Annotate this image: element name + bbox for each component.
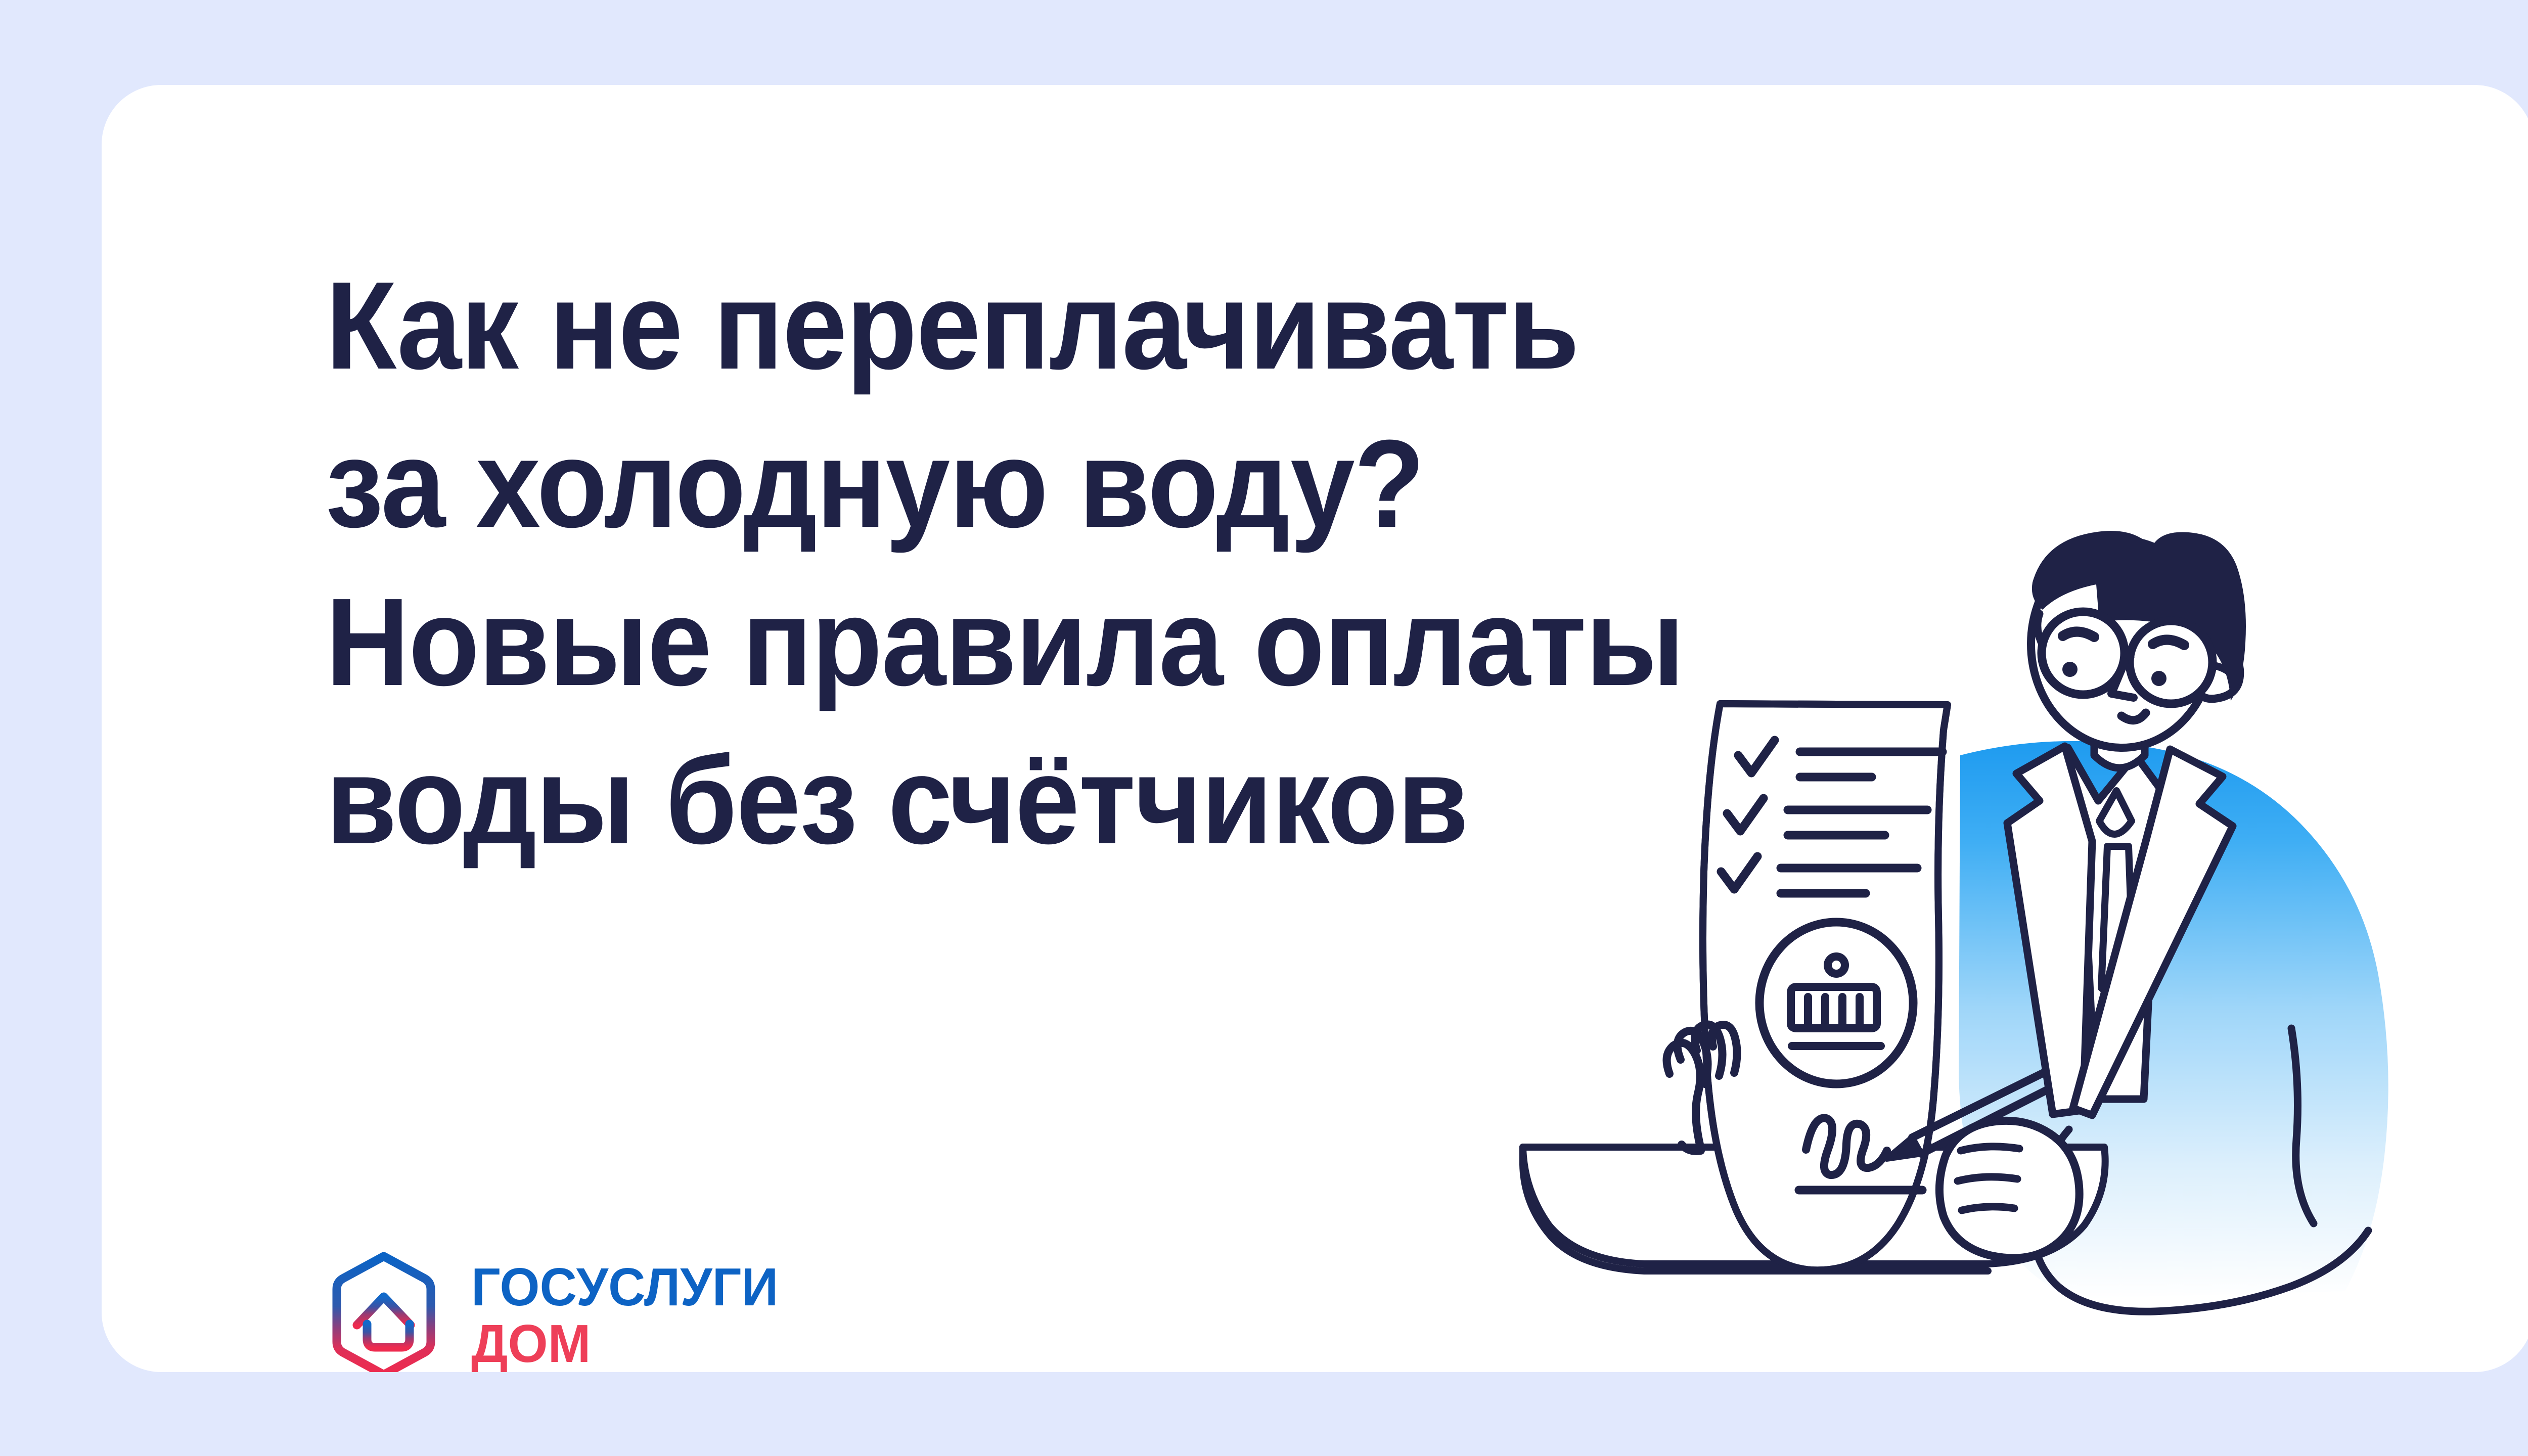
- eye-right: [2151, 671, 2166, 686]
- wordmark-line-dom: ДОМ: [471, 1315, 778, 1372]
- content-card: Как не переплачивать за холодную воду? Н…: [102, 85, 2528, 1372]
- illustration-svg: [1503, 518, 2504, 1372]
- banner-canvas: Как не переплачивать за холодную воду? Н…: [0, 0, 2528, 1456]
- eye-left: [2062, 662, 2078, 677]
- eyebrow-right: [2153, 640, 2184, 645]
- brand-logo[interactable]: ГОСУСЛУГИ ДОМ: [326, 1250, 791, 1372]
- eyebrow-left: [2063, 631, 2094, 637]
- house-in-hexagon-icon: [326, 1250, 442, 1372]
- right-hand: [1939, 1121, 2080, 1258]
- illustration-man-signing-document: [1503, 518, 2504, 1372]
- headline-line-1: Как не переплачивать: [326, 247, 1783, 405]
- wordmark-line-gosuslugi: ГОСУСЛУГИ: [471, 1259, 778, 1315]
- brand-wordmark: ГОСУСЛУГИ ДОМ: [471, 1259, 791, 1372]
